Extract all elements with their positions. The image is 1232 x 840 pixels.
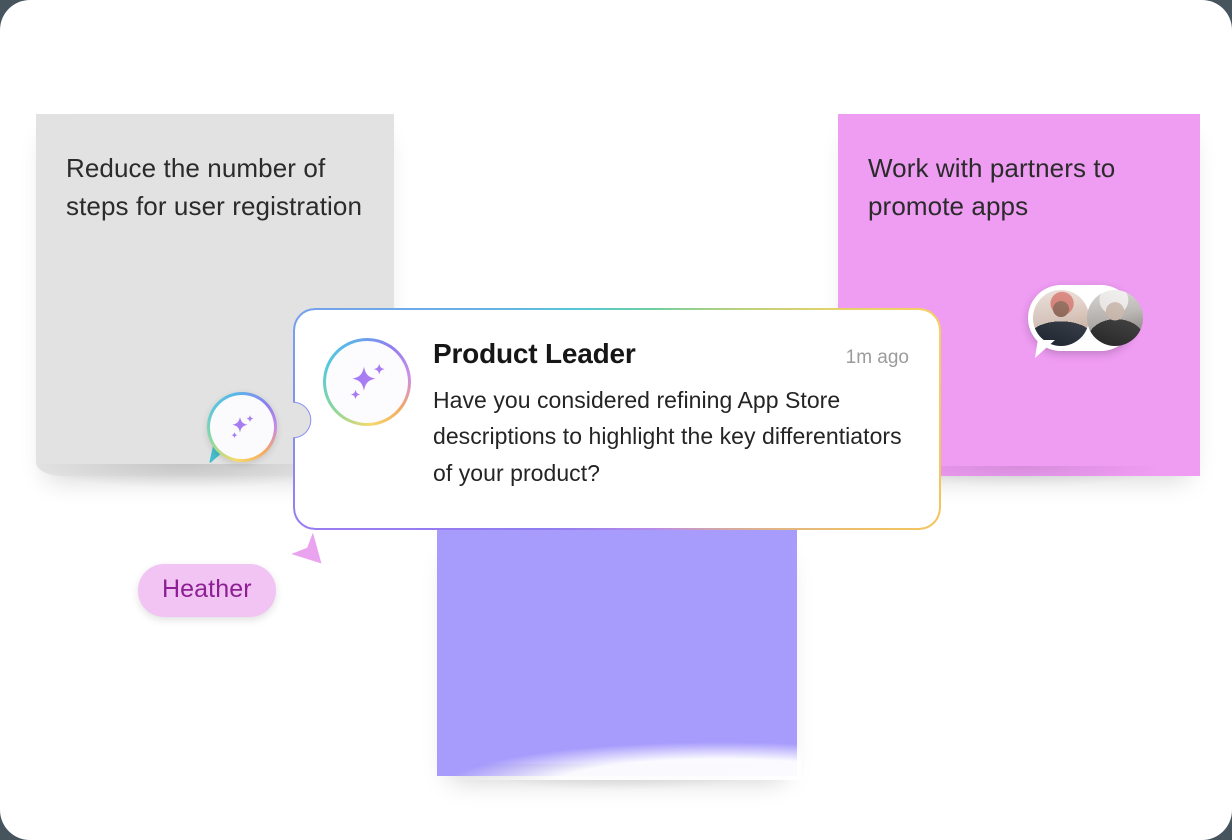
ai-suggestion-badge[interactable] bbox=[207, 392, 277, 462]
ai-card-message: Have you considered refining App Store d… bbox=[433, 382, 909, 491]
sticky-note-text: Work with partners to promote apps bbox=[868, 150, 1170, 226]
avatar[interactable] bbox=[1087, 290, 1143, 346]
sparkles-icon bbox=[225, 410, 259, 444]
ai-avatar-inner bbox=[326, 341, 408, 423]
collaborator-avatar-group[interactable] bbox=[1028, 285, 1134, 351]
ai-card-header: Product Leader 1m ago bbox=[433, 338, 909, 370]
sticky-note-purple[interactable] bbox=[437, 530, 797, 776]
sparkles-icon bbox=[341, 356, 393, 408]
avatar[interactable] bbox=[1033, 290, 1089, 346]
gradient-ring bbox=[207, 392, 277, 462]
sticky-note-text: Reduce the number of steps for user regi… bbox=[66, 150, 364, 226]
ai-avatar bbox=[323, 338, 411, 426]
whiteboard-canvas: Reduce the number of steps for user regi… bbox=[0, 0, 1232, 840]
ai-card-title: Product Leader bbox=[433, 338, 636, 370]
cursor-name-label: Heather bbox=[138, 564, 276, 617]
ai-card-timestamp: 1m ago bbox=[846, 347, 909, 369]
ai-card-body: Product Leader 1m ago Have you considere… bbox=[433, 336, 909, 504]
badge-inner bbox=[210, 395, 274, 459]
ai-suggestion-card[interactable]: Product Leader 1m ago Have you considere… bbox=[293, 308, 941, 530]
ai-card-content: Product Leader 1m ago Have you considere… bbox=[295, 310, 939, 528]
